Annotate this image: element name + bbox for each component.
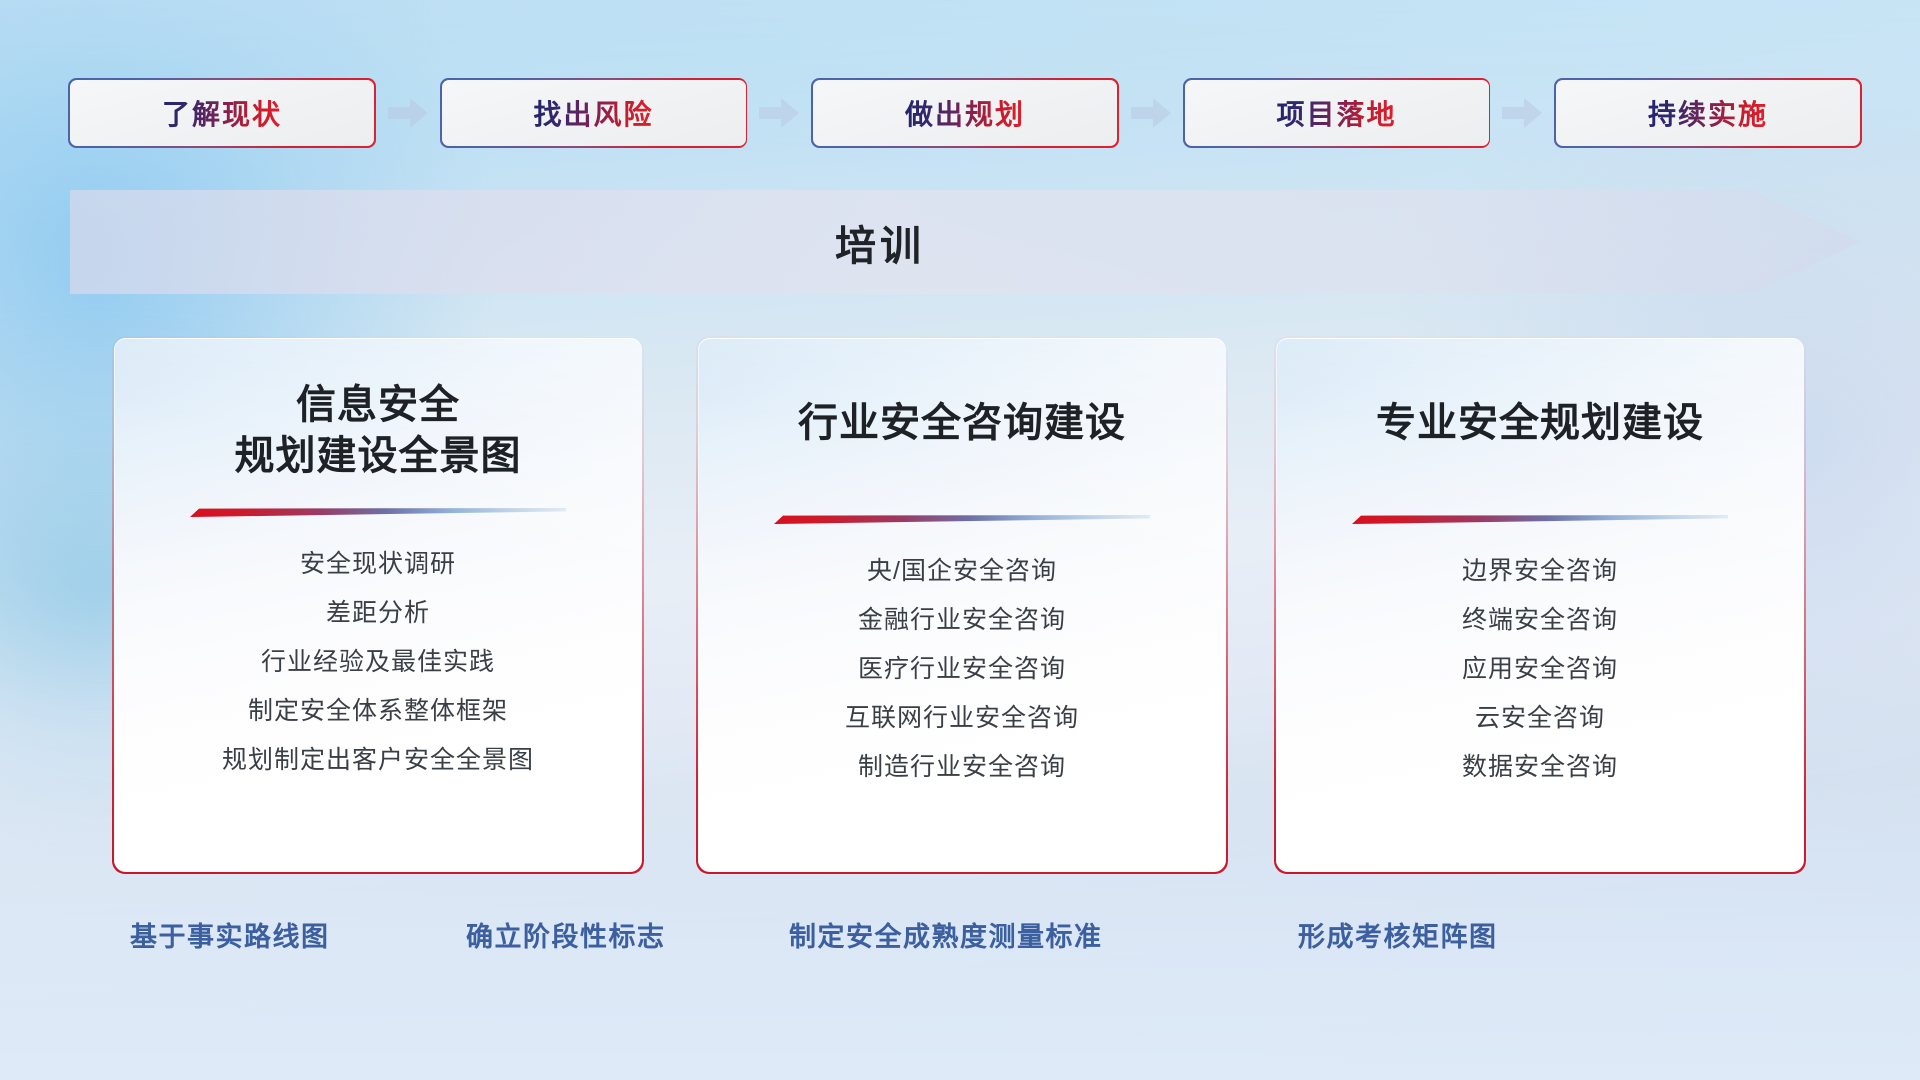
caption-row: 基于事实路线图 确立阶段性标志 制定安全成熟度测量标准 形成考核矩阵图 xyxy=(0,915,1920,969)
card-title-line: 规划建设全景图 xyxy=(114,431,643,482)
list-item: 制造行业安全咨询 xyxy=(858,746,1066,789)
step-label: 持续实施 xyxy=(1648,93,1768,133)
list-item: 边界安全咨询 xyxy=(1462,550,1618,593)
card-information-security-blueprint[interactable]: 信息安全 规划建设全景图 xyxy=(112,336,644,874)
card-divider xyxy=(774,515,1150,524)
card-professional-security-planning[interactable]: 专业安全规划建设 xyxy=(1274,336,1806,874)
list-item: 数据安全咨询 xyxy=(1462,746,1618,789)
card-outline: 信息安全 规划建设全景图 xyxy=(112,336,644,874)
card-divider xyxy=(1352,515,1728,524)
list-item: 央/国企安全咨询 xyxy=(867,550,1057,593)
list-item: 金融行业安全咨询 xyxy=(858,599,1066,642)
card-item-list: 安全现状调研 差距分析 行业经验及最佳实践 制定安全体系整体框架 规划制定出客户… xyxy=(114,543,643,782)
process-step-row: 了解现状 找出风险 做出规划 项目落地 持续实施 xyxy=(70,80,1860,146)
list-item: 规划制定出客户安全全景图 xyxy=(222,739,534,782)
list-item: 差距分析 xyxy=(326,592,430,635)
card-title-line: 行业安全咨询建设 xyxy=(698,398,1227,449)
card-title: 行业安全咨询建设 xyxy=(698,398,1227,449)
card-divider xyxy=(190,508,566,517)
arrow-right-icon xyxy=(1131,96,1171,130)
step-chip-2[interactable]: 找出风险 xyxy=(442,80,746,146)
list-item: 医疗行业安全咨询 xyxy=(858,648,1066,691)
arrow-right-icon xyxy=(388,96,428,130)
card-title: 专业安全规划建设 xyxy=(1276,398,1805,449)
arrow-right-icon xyxy=(759,96,799,130)
card-title: 信息安全 规划建设全景图 xyxy=(114,380,643,482)
step-chip-4[interactable]: 项目落地 xyxy=(1185,80,1489,146)
caption-fact-based-roadmap: 基于事实路线图 xyxy=(130,915,330,954)
caption-phase-milestones: 确立阶段性标志 xyxy=(466,915,666,954)
caption-maturity-standard: 制定安全成熟度测量标准 xyxy=(789,915,1103,954)
card-item-list: 央/国企安全咨询 金融行业安全咨询 医疗行业安全咨询 互联网行业安全咨询 制造行… xyxy=(698,550,1227,789)
list-item: 云安全咨询 xyxy=(1475,697,1605,740)
card-item-list: 边界安全咨询 终端安全咨询 应用安全咨询 云安全咨询 数据安全咨询 xyxy=(1276,550,1805,789)
card-face: 行业安全咨询建设 xyxy=(698,338,1227,873)
list-item: 制定安全体系整体框架 xyxy=(248,690,508,733)
step-chip-5[interactable]: 持续实施 xyxy=(1556,80,1860,146)
card-title-line: 专业安全规划建设 xyxy=(1276,398,1805,449)
list-item: 互联网行业安全咨询 xyxy=(845,697,1079,740)
list-item: 安全现状调研 xyxy=(300,543,456,586)
card-title-line: 信息安全 xyxy=(114,380,643,431)
banner-label: 培训 xyxy=(70,190,1690,294)
step-label: 做出规划 xyxy=(905,93,1025,133)
step-chip-1[interactable]: 了解现状 xyxy=(70,80,374,146)
caption-assessment-matrix: 形成考核矩阵图 xyxy=(1298,915,1498,954)
list-item: 行业经验及最佳实践 xyxy=(261,641,495,684)
card-outline: 专业安全规划建设 xyxy=(1274,336,1806,874)
list-item: 应用安全咨询 xyxy=(1462,648,1618,691)
step-chip-3[interactable]: 做出规划 xyxy=(813,80,1117,146)
list-item: 终端安全咨询 xyxy=(1462,599,1618,642)
card-industry-security-consulting[interactable]: 行业安全咨询建设 xyxy=(696,336,1228,874)
training-banner: 培训 xyxy=(70,190,1860,294)
card-face: 专业安全规划建设 xyxy=(1276,338,1805,873)
step-label: 了解现状 xyxy=(162,93,282,133)
arrow-right-icon xyxy=(1502,96,1542,130)
card-outline: 行业安全咨询建设 xyxy=(696,336,1228,874)
card-face: 信息安全 规划建设全景图 xyxy=(114,338,643,873)
step-label: 找出风险 xyxy=(533,93,653,133)
card-row: 信息安全 规划建设全景图 xyxy=(0,336,1920,876)
step-label: 项目落地 xyxy=(1276,93,1396,133)
